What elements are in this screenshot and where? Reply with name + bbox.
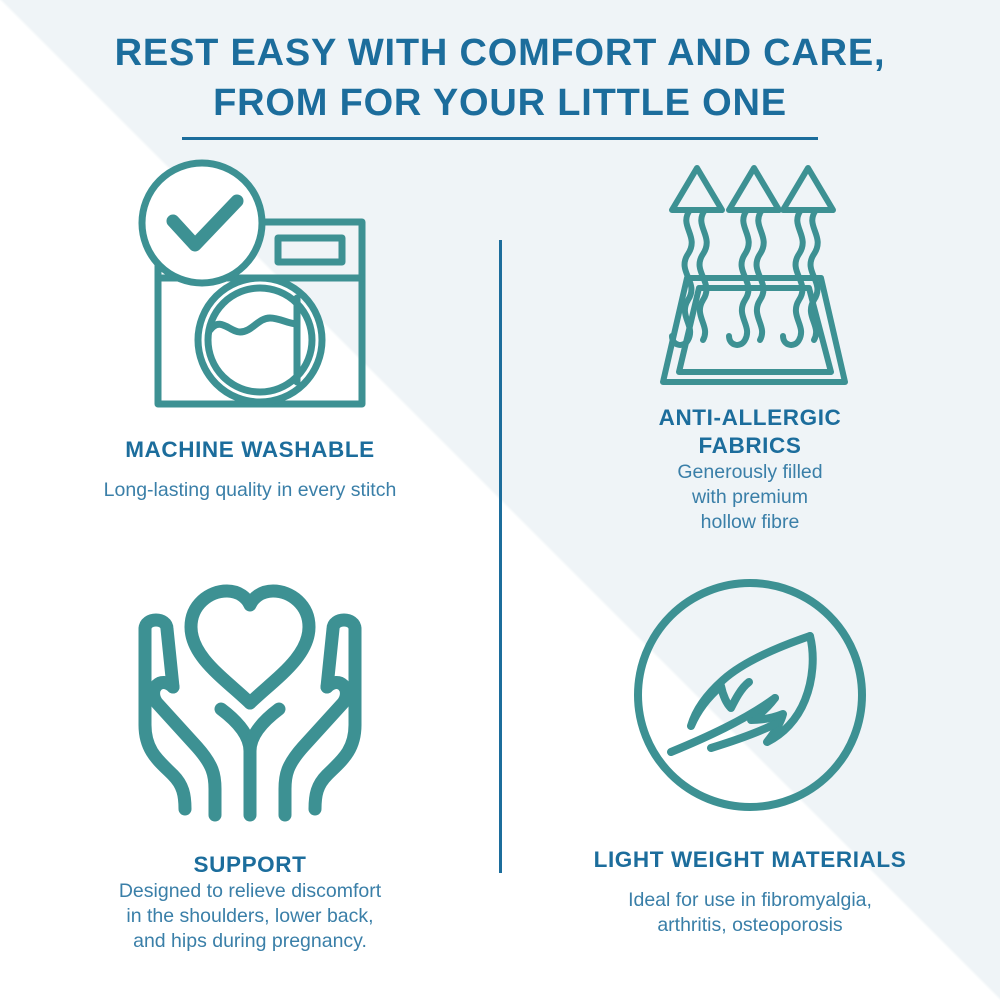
feature-description: Long-lasting quality in every stitch [104,478,397,503]
feature-title: MACHINE WASHABLE [125,436,375,464]
infographic-content: REST EASY WITH COMFORT AND CARE, FROM FO… [0,0,1000,1000]
feature-title-line-1: ANTI-ALLERGIC [659,404,842,432]
feature-title-line-2: FABRICS [699,432,802,460]
title-line-1: REST EASY WITH COMFORT AND CARE, [0,28,1000,78]
feature-anti-allergic-fabrics: ANTI-ALLERGIC FABRICS Generously filled … [530,150,970,535]
feather-in-circle-icon [625,570,875,820]
title-line-2: FROM FOR YOUR LITTLE ONE [0,78,1000,128]
page-title: REST EASY WITH COMFORT AND CARE, FROM FO… [0,28,1000,140]
feature-description-line-1: Ideal for use in fibromyalgia, [628,888,872,913]
feature-description-line-1: Designed to relieve discomfort [119,879,381,904]
feature-support: SUPPORT Designed to relieve discomfort i… [30,575,470,954]
feature-description-line-2: arthritis, osteoporosis [657,913,842,938]
feature-description-line-3: hollow fibre [701,510,800,535]
breathable-fabric-arrows-icon [625,150,875,400]
washing-machine-check-icon [120,150,380,410]
title-underline [182,137,818,140]
feature-description-line-3: and hips during pregnancy. [133,929,367,954]
feature-description-line-2: in the shoulders, lower back, [126,904,373,929]
vertical-divider [499,240,502,873]
feature-title: SUPPORT [194,851,307,879]
feature-title: LIGHT WEIGHT MATERIALS [594,846,907,874]
infographic-canvas: REST EASY WITH COMFORT AND CARE, FROM FO… [0,0,1000,1000]
feature-light-weight-materials: LIGHT WEIGHT MATERIALS Ideal for use in … [530,570,970,938]
feature-machine-washable: MACHINE WASHABLE Long-lasting quality in… [30,150,470,503]
hands-holding-heart-icon [125,575,375,825]
feature-description-line-2: with premium [692,485,808,510]
feature-description-line-1: Generously filled [677,460,822,485]
